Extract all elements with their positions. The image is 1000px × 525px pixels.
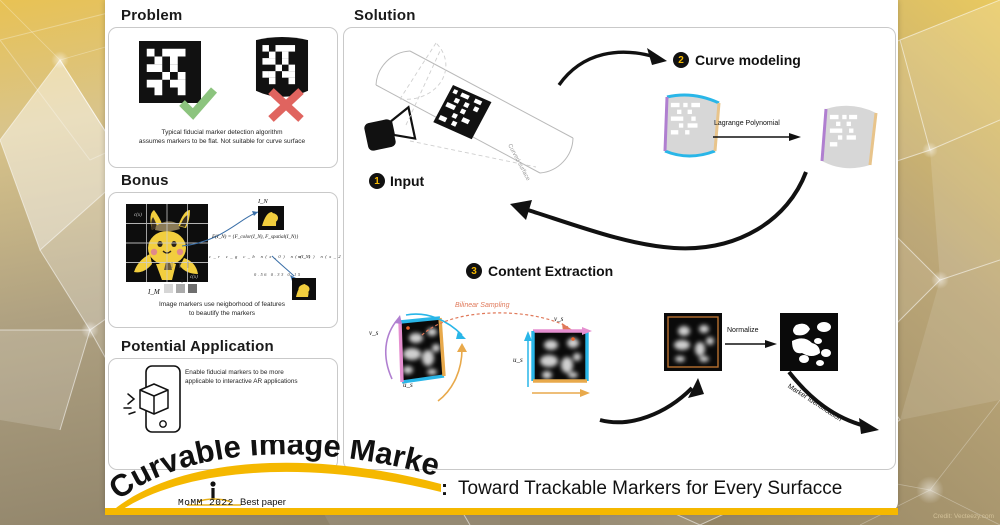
step-2-label: Curve modeling — [695, 52, 801, 68]
step-3-number: 3 — [471, 266, 477, 277]
curve-model-marker-b — [812, 99, 886, 177]
bonus-row-terms-text: c_r c_g c_b n(x_0) n(x_1) n(x_2) — [209, 254, 347, 259]
arrow-to-normalize-input — [596, 370, 716, 430]
normalize-label: Normalize — [727, 327, 759, 334]
application-caption-line2: applicable to interactive AR application… — [185, 378, 298, 385]
poster-canvas: Problem — [0, 0, 1000, 525]
application-caption-line1: Enable fiducial markers to be more — [185, 369, 284, 376]
bonus-source-label: I_M — [148, 288, 160, 296]
check-icon — [178, 86, 218, 120]
step-2-number: 2 — [678, 55, 684, 66]
bonus-row-terms: c_r c_g c_b n(x_0) n(x_1) n(x_2) — [209, 254, 347, 259]
application-caption: Enable fiducial markers to be more appli… — [185, 368, 325, 387]
rect-axis-v-label: v_s — [554, 315, 563, 323]
footer-badge-award: Best paper — [240, 497, 286, 508]
bilinear-sampling-label: Bilinear Sampling — [455, 302, 509, 309]
lagrange-label: Lagrange Polynomial — [714, 120, 780, 127]
footer-badge: MoMM 2022 Best paper — [178, 497, 286, 508]
step-3-label: Content Extraction — [488, 263, 613, 279]
svg-text:c(x): c(x) — [134, 213, 142, 218]
footer-subtitle: Toward Trackable Markers for Every Surfa… — [458, 478, 842, 500]
pre-normalize-patch — [664, 313, 722, 371]
curved-axis-u-label: u_s — [403, 381, 413, 389]
bonus-patch-label: I_N — [258, 198, 268, 205]
arrow-input-to-curve — [555, 45, 680, 90]
arrow-lagrange — [713, 132, 805, 144]
svg-text:c(x): c(x) — [190, 275, 198, 280]
footer-colon: : — [441, 477, 448, 501]
bonus-row-values: 0.56 0.33 0.15 — [254, 272, 302, 277]
bonus-formula: F(I_N) = {F_color(I_N), F_spatial(I_N)} — [212, 234, 298, 240]
cross-icon — [265, 85, 307, 125]
bonus-diagram: c(x) c(x) f x — [112, 196, 332, 306]
bonus-caption-line1: Image markers use neigborhood of feature… — [159, 301, 285, 308]
footer-badge-conference: MoMM 2022 — [178, 497, 234, 508]
step-1-label: Input — [390, 173, 424, 189]
bonus-section-title: Bonus — [121, 172, 169, 189]
step-1-number: 1 — [374, 176, 380, 187]
phone-ar-icon — [120, 362, 190, 440]
arrow-marker-identification — [785, 370, 890, 440]
problem-section-title: Problem — [121, 7, 182, 24]
bonus-row-values-text: 0.56 0.33 0.15 — [254, 272, 302, 277]
bonus-caption-line2: to beautify the markers — [189, 310, 255, 317]
problem-caption-line1: Typical fiducial marker detection algori… — [161, 129, 282, 136]
step-3-badge: 3 — [466, 263, 482, 279]
application-section-title: Potential Application — [121, 338, 274, 355]
curved-axis-v-label: v_s — [369, 329, 378, 337]
arrow-normalize — [725, 339, 779, 351]
bonus-caption: Image markers use neigborhood of feature… — [118, 300, 326, 319]
rect-axis-u-label: u_s — [513, 356, 523, 364]
step-1-badge: 1 — [369, 173, 385, 189]
problem-caption-line2: assumes markers to be flat. Not suitable… — [139, 138, 305, 145]
credit-text: Credit: Vecteezy.com — [933, 513, 994, 520]
step-2-badge: 2 — [673, 52, 689, 68]
arrow-curve-to-extraction — [488, 168, 818, 258]
normalized-binary-patch — [780, 313, 838, 371]
curve-model-marker-a — [655, 89, 729, 165]
solution-section-title: Solution — [354, 7, 416, 24]
problem-caption: Typical fiducial marker detection algori… — [118, 128, 326, 147]
